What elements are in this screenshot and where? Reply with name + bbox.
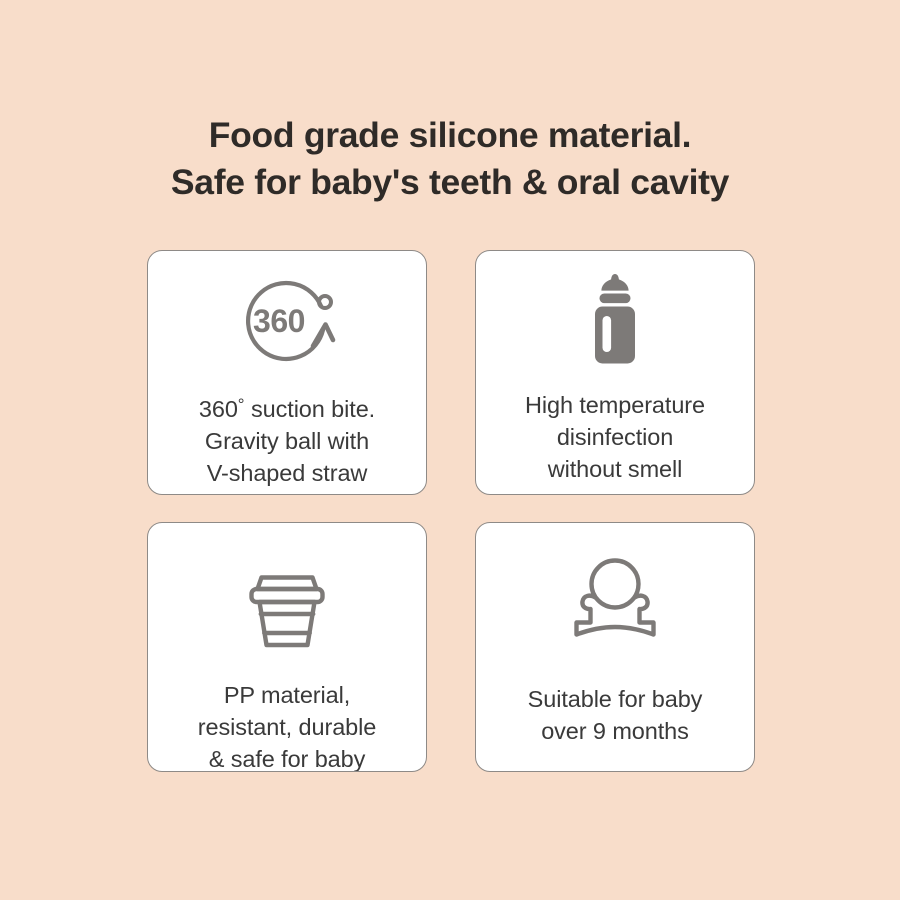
icon-container xyxy=(239,523,335,667)
lidded-cup-icon xyxy=(239,557,335,653)
feature-card-pp-material: PP material, resistant, durable & safe f… xyxy=(147,522,427,772)
feature-text-line-3: & safe for baby xyxy=(198,743,376,772)
feature-text-line-3: V-shaped straw xyxy=(199,457,375,489)
crawling-baby-icon xyxy=(561,556,669,650)
icon-container: 360 xyxy=(235,251,339,383)
icon-container xyxy=(561,523,669,665)
feature-text-line-1: Suitable for baby xyxy=(528,683,703,715)
feature-text-line-1: PP material, xyxy=(198,679,376,711)
page-title: Food grade silicone material. Safe for b… xyxy=(0,112,900,206)
feature-text-line-3: without smell xyxy=(525,453,705,485)
feature-text-line-2: resistant, durable xyxy=(198,711,376,743)
page-title-line-1: Food grade silicone material. xyxy=(0,112,900,159)
icon-container xyxy=(576,251,654,381)
feature-card-suitable-age: Suitable for baby over 9 months xyxy=(475,522,755,772)
feature-card-text: High temperature disinfection without sm… xyxy=(515,389,715,485)
feature-card-text: 360° suction bite. Gravity ball with V-s… xyxy=(189,389,385,489)
degree-symbol: ° xyxy=(238,395,245,414)
feature-text-line-1: 360° suction bite. xyxy=(199,389,375,425)
360-rotation-arrow-icon: 360 xyxy=(235,276,339,372)
baby-bottle-icon xyxy=(576,272,654,372)
feature-text-line-2: over 9 months xyxy=(528,715,703,747)
feature-card-high-temperature-disinfection: High temperature disinfection without sm… xyxy=(475,250,755,495)
feature-card-suction-bite: 360 360° suction bite. Gravity ball with… xyxy=(147,250,427,495)
feature-card-text: Suitable for baby over 9 months xyxy=(518,683,713,747)
product-feature-poster: Food grade silicone material. Safe for b… xyxy=(0,0,900,900)
feature-text-line-2: Gravity ball with xyxy=(199,425,375,457)
page-title-line-2: Safe for baby's teeth & oral cavity xyxy=(0,159,900,206)
feature-card-grid: 360 360° suction bite. Gravity ball with… xyxy=(147,250,755,772)
360-icon-label: 360 xyxy=(253,303,305,339)
feature-text-line-2: disinfection xyxy=(525,421,705,453)
feature-text-line-1: High temperature xyxy=(525,389,705,421)
feature-card-text: PP material, resistant, durable & safe f… xyxy=(188,679,386,772)
